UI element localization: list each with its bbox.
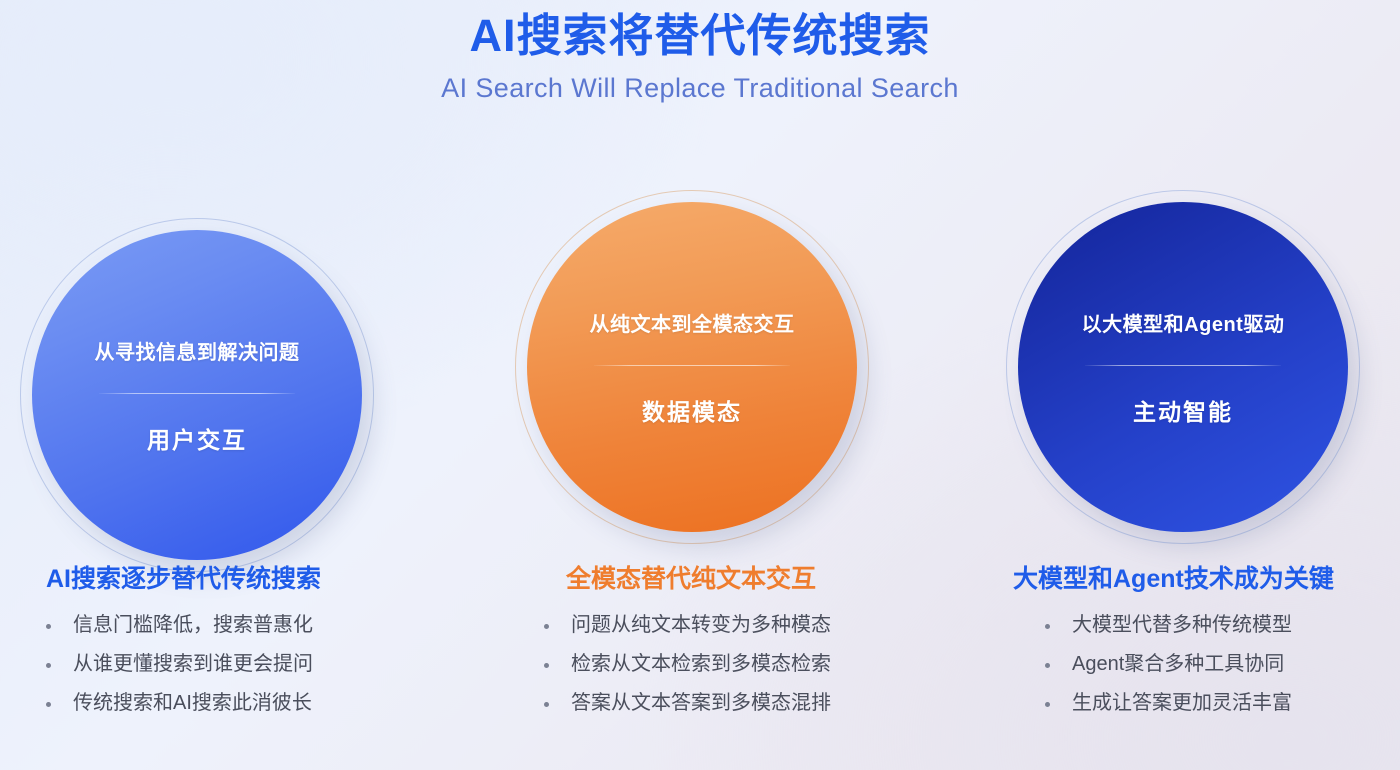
list-item-label: 生成让答案更加灵活丰富 <box>1072 693 1292 713</box>
detail-column-3: 大模型和Agent技术成为关键 大模型代替多种传统模型 Agent聚合多种工具协… <box>1013 566 1400 732</box>
bullet-dot-icon <box>544 663 549 668</box>
column-heading: 大模型和Agent技术成为关键 <box>1013 566 1400 594</box>
circle-orange[interactable]: 从纯文本到全模态交互 数据模态 <box>527 202 857 532</box>
bullet-dot-icon <box>544 624 549 629</box>
detail-column-2: 全模态替代纯文本交互 问题从纯文本转变为多种模态 检索从文本检索到多模态检索 答… <box>540 566 970 732</box>
bullet-list: 问题从纯文本转变为多种模态 检索从文本检索到多模态检索 答案从文本答案到多模态混… <box>540 615 970 713</box>
list-item: 生成让答案更加灵活丰富 <box>1045 693 1400 713</box>
bullet-list: 信息门槛降低，搜索普惠化 从谁更懂搜索到谁更会提问 传统搜索和AI搜索此消彼长 <box>46 615 476 713</box>
list-item-label: 问题从纯文本转变为多种模态 <box>571 615 831 635</box>
circle-divider <box>594 365 790 366</box>
bullet-dot-icon <box>1045 663 1050 668</box>
bullet-dot-icon <box>46 624 51 629</box>
list-item: 检索从文本检索到多模态检索 <box>544 654 970 674</box>
circle-card-proactive-intelligence[interactable]: 以大模型和Agent驱动 主动智能 <box>1018 202 1348 532</box>
page-subtitle: AI Search Will Replace Traditional Searc… <box>0 73 1400 104</box>
circle-blue[interactable]: 从寻找信息到解决问题 用户交互 <box>32 230 362 560</box>
bullet-dot-icon <box>1045 702 1050 707</box>
circle-bottom-label: 用户交互 <box>147 421 247 455</box>
list-item-label: 从谁更懂搜索到谁更会提问 <box>73 654 313 674</box>
circle-navy[interactable]: 以大模型和Agent驱动 主动智能 <box>1018 202 1348 532</box>
list-item: Agent聚合多种工具协同 <box>1045 654 1400 674</box>
list-item-label: 传统搜索和AI搜索此消彼长 <box>73 693 312 713</box>
detail-columns: AI搜索逐步替代传统搜索 信息门槛降低，搜索普惠化 从谁更懂搜索到谁更会提问 传… <box>0 566 1400 770</box>
bullet-dot-icon <box>544 702 549 707</box>
bullet-list: 大模型代替多种传统模型 Agent聚合多种工具协同 生成让答案更加灵活丰富 <box>1013 615 1400 713</box>
list-item: 答案从文本答案到多模态混排 <box>544 693 970 713</box>
detail-column-1: AI搜索逐步替代传统搜索 信息门槛降低，搜索普惠化 从谁更懂搜索到谁更会提问 传… <box>46 566 476 732</box>
circle-bottom-label: 数据模态 <box>642 393 742 427</box>
bullet-dot-icon <box>46 702 51 707</box>
bullet-dot-icon <box>1045 624 1050 629</box>
circle-top-label: 以大模型和Agent驱动 <box>1082 308 1285 337</box>
circle-top-label: 从寻找信息到解决问题 <box>95 336 300 365</box>
list-item: 信息门槛降低，搜索普惠化 <box>46 615 476 635</box>
list-item-label: 检索从文本检索到多模态检索 <box>571 654 831 674</box>
column-heading: AI搜索逐步替代传统搜索 <box>46 566 476 594</box>
circle-divider <box>1085 365 1281 366</box>
bullet-dot-icon <box>46 663 51 668</box>
list-item: 问题从纯文本转变为多种模态 <box>544 615 970 635</box>
circle-top-label: 从纯文本到全模态交互 <box>590 308 795 337</box>
list-item-label: Agent聚合多种工具协同 <box>1072 654 1284 674</box>
list-item: 从谁更懂搜索到谁更会提问 <box>46 654 476 674</box>
circle-divider <box>99 393 295 394</box>
circle-card-user-interaction[interactable]: 从寻找信息到解决问题 用户交互 <box>32 230 362 560</box>
circle-card-data-modality[interactable]: 从纯文本到全模态交互 数据模态 <box>527 202 857 532</box>
list-item: 大模型代替多种传统模型 <box>1045 615 1400 635</box>
circle-bottom-label: 主动智能 <box>1133 393 1233 427</box>
page-title: AI搜索将替代传统搜索 <box>0 10 1400 62</box>
circles-row: 从寻找信息到解决问题 用户交互 从纯文本到全模态交互 数据模态 以大模型和Age… <box>0 186 1400 546</box>
list-item-label: 大模型代替多种传统模型 <box>1072 615 1292 635</box>
column-heading: 全模态替代纯文本交互 <box>540 566 970 594</box>
list-item: 传统搜索和AI搜索此消彼长 <box>46 693 476 713</box>
list-item-label: 答案从文本答案到多模态混排 <box>571 693 831 713</box>
slide-header: AI搜索将替代传统搜索 AI Search Will Replace Tradi… <box>0 0 1400 104</box>
list-item-label: 信息门槛降低，搜索普惠化 <box>73 615 313 635</box>
